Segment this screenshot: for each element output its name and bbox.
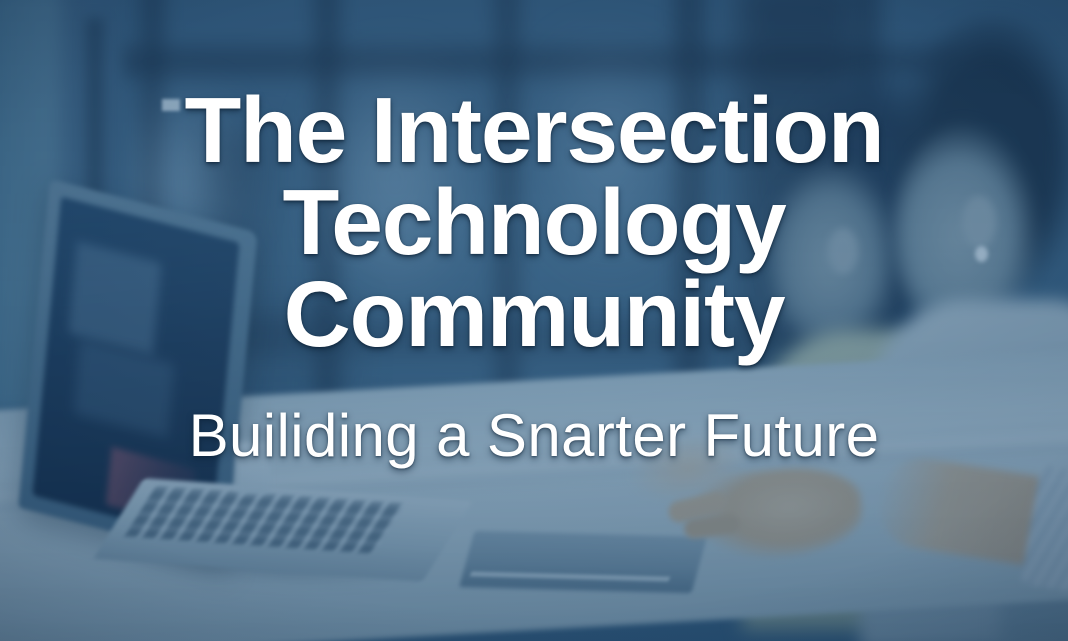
headline-block: The Intersection Technology Community [0,84,1068,360]
headline-line-3: Community [0,268,1068,360]
banner-image: The Intersection Technology Community Bu… [0,0,1068,641]
headline: The Intersection Technology Community [0,84,1068,360]
headline-line-2: Technology [0,176,1068,268]
subtitle: Builiding a Snarter Future [0,404,1068,468]
headline-line-1: The Intersection [0,84,1068,176]
